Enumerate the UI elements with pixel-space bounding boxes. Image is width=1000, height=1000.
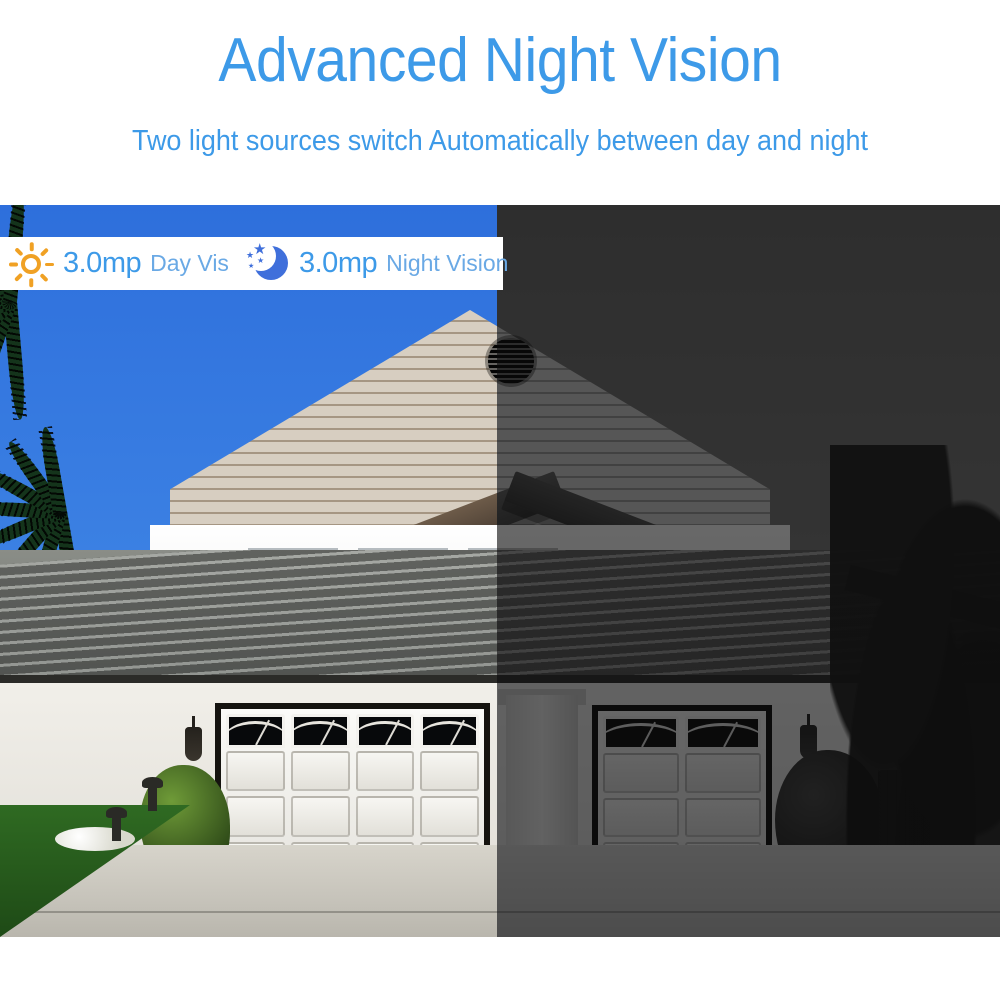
night-vision-value: 3.0mp	[299, 247, 377, 280]
day-vision-value: 3.0mp	[63, 247, 141, 280]
comparison-photo: 3.0mp Day Vision ★ ★ ★ ★ 3.0mp Night Vis…	[0, 205, 1000, 937]
star-icon: ★	[248, 263, 254, 270]
star-icon: ★	[253, 242, 266, 257]
garage-window	[291, 714, 350, 748]
path-light	[148, 785, 157, 811]
star-icon: ★	[246, 251, 254, 260]
path-light	[112, 815, 121, 841]
sun-icon	[8, 244, 54, 284]
driveway-seam	[0, 911, 1000, 913]
garage-window	[226, 714, 285, 748]
footer-whitespace	[0, 937, 1000, 1000]
page-subtitle: Two light sources switch Automatically b…	[35, 122, 965, 160]
flower-bed	[55, 827, 135, 851]
moon-icon: ★ ★ ★ ★	[244, 243, 290, 285]
night-vision-label: Night Vision	[386, 250, 508, 277]
page-title: Advanced Night Vision	[40, 24, 960, 98]
star-icon: ★	[257, 257, 264, 265]
garage-window	[685, 716, 761, 750]
garage-window	[356, 714, 415, 748]
night-vision-badge: ★ ★ ★ ★ 3.0mp Night Vision	[230, 237, 503, 290]
driveway	[0, 845, 1000, 937]
attic-vent	[488, 338, 534, 384]
header: Advanced Night Vision Two light sources …	[0, 0, 1000, 205]
garage-window	[420, 714, 479, 748]
garage-window	[603, 716, 679, 750]
wall-sconce-light-left	[185, 727, 202, 761]
